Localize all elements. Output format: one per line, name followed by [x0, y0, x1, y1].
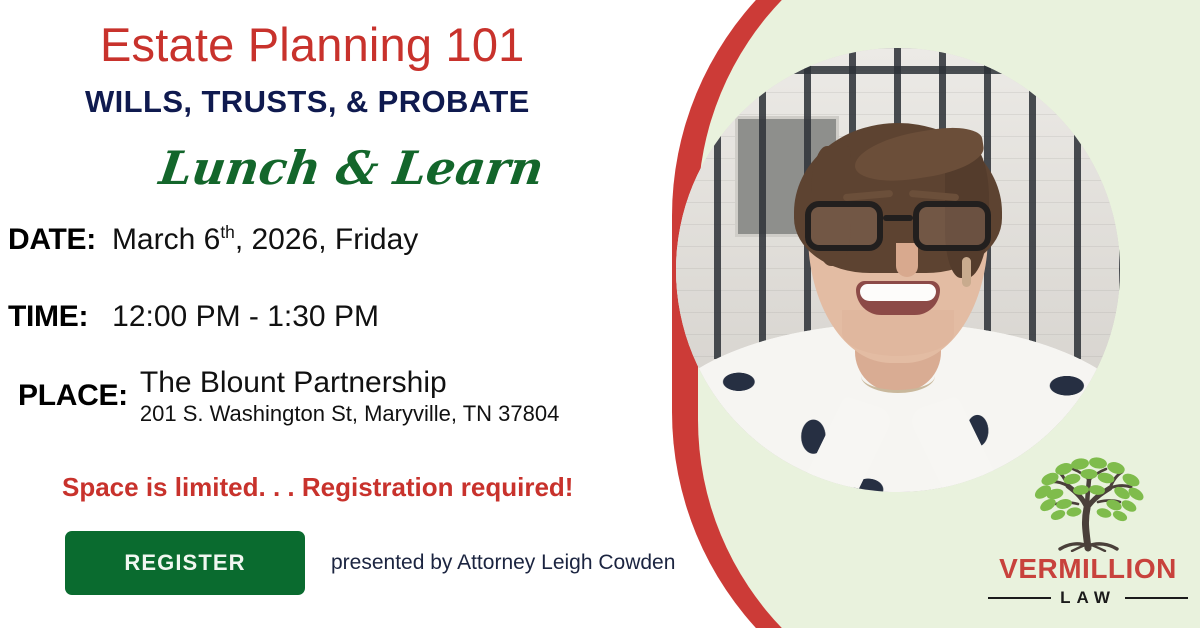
tree-icon [988, 452, 1188, 552]
glasses-lens-right [913, 201, 991, 251]
logo-rule-right [1125, 597, 1188, 599]
flyer-title: Estate Planning 101 [100, 17, 525, 72]
detail-row-place: PLACE: The Blount Partnership 201 S. Was… [18, 366, 559, 429]
logo-firm-subtitle: LAW [1060, 588, 1116, 608]
presenter-credit: presented by Attorney Leigh Cowden [331, 551, 675, 575]
person-chin [842, 310, 954, 356]
logo-firm-name: VERMILLION [988, 553, 1188, 585]
register-button[interactable]: REGISTER [65, 531, 305, 595]
place-venue: The Blount Partnership [140, 366, 559, 399]
detail-row-date: DATE: March 6th, 2026, Friday [8, 222, 418, 257]
date-value-prefix: March 6 [112, 223, 220, 256]
date-label: DATE: [8, 223, 96, 257]
date-value: March 6th, 2026, Friday [112, 222, 418, 257]
place-value: The Blount Partnership 201 S. Washington… [140, 366, 559, 429]
logo-rule-left [988, 597, 1051, 599]
eyeglasses-icon [805, 201, 991, 253]
time-label: TIME: [8, 300, 88, 334]
glasses-bridge [883, 215, 913, 221]
person-necklace [861, 359, 935, 393]
registration-notice: Space is limited. . . Registration requi… [62, 472, 573, 503]
flyer-subtitle: WILLS, TRUSTS, & PROBATE [85, 84, 530, 120]
person-smile [856, 281, 940, 315]
date-value-suffix: , 2026, Friday [235, 223, 418, 256]
glasses-lens-left [805, 201, 883, 251]
event-flyer: Estate Planning 101 WILLS, TRUSTS, & PRO… [0, 0, 1200, 628]
flyer-content: Estate Planning 101 WILLS, TRUSTS, & PRO… [0, 0, 700, 628]
person-figure [676, 48, 1120, 492]
flyer-script-line: Lunch & Learn [156, 141, 547, 195]
time-value: 12:00 PM - 1:30 PM [112, 300, 379, 334]
place-address: 201 S. Washington St, Maryville, TN 3780… [140, 399, 559, 429]
firm-logo: VERMILLION LAW [988, 452, 1188, 620]
speaker-photo [676, 48, 1120, 492]
detail-row-time: TIME: 12:00 PM - 1:30 PM [8, 300, 379, 334]
logo-subtitle-wrap: LAW [988, 588, 1188, 608]
person-teeth [860, 284, 936, 301]
place-label: PLACE: [18, 379, 128, 413]
date-ordinal-suffix: th [220, 222, 235, 242]
person-earring [962, 257, 971, 287]
